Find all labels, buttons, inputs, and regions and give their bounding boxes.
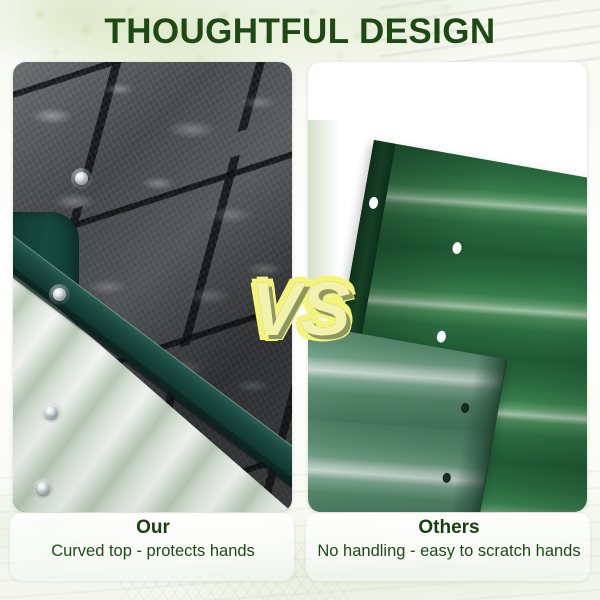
caption-our-description: Curved top - protects hands [8, 540, 298, 561]
bolt-head [75, 172, 88, 185]
caption-our: Our Curved top - protects hands [8, 513, 298, 561]
caption-others: Others No handling - easy to scratch han… [304, 513, 594, 561]
caption-others-description: No handling - easy to scratch hands [304, 540, 594, 561]
caption-our-heading: Our [8, 516, 298, 540]
caption-others-heading: Others [304, 516, 594, 540]
page-title: THOUGHTFUL DESIGN [0, 12, 600, 52]
bolt-head [37, 482, 50, 495]
bolt-head [45, 406, 58, 419]
versus-badge: VS [0, 272, 600, 348]
infographic-canvas: THOUGHTFUL DESIGN [0, 0, 600, 600]
